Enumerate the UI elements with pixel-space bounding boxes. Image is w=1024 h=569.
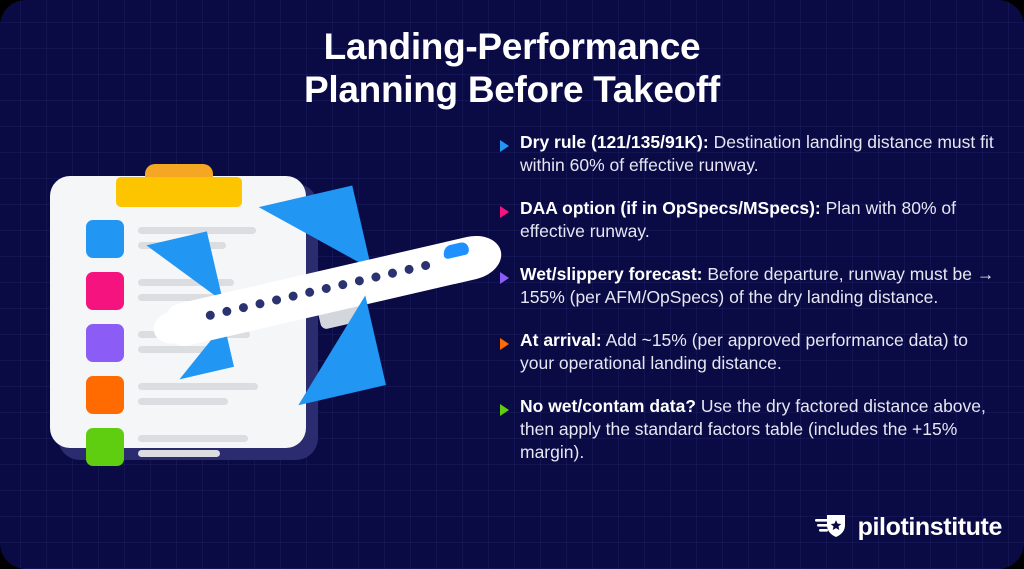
clipboard-clip-base xyxy=(116,177,242,207)
logo-wordmark: pilotinstitute xyxy=(858,513,1002,542)
bullet-item: At arrival: Add ~15% (per approved perfo… xyxy=(498,329,998,376)
bullet-item: No wet/contam data? Use the dry factored… xyxy=(498,395,998,465)
bullet-triangle-icon xyxy=(500,272,509,284)
bullet-text: Wet/slippery forecast: Before departure,… xyxy=(520,263,998,310)
bullet-text: DAA option (if in OpSpecs/MSpecs): Plan … xyxy=(520,197,998,244)
bullet-list: Dry rule (121/135/91K): Destination land… xyxy=(498,131,998,465)
bullet-text: Dry rule (121/135/91K): Destination land… xyxy=(520,131,998,178)
bullet-item: DAA option (if in OpSpecs/MSpecs): Plan … xyxy=(498,197,998,244)
bullet-triangle-icon xyxy=(500,140,509,152)
page-title: Landing-Performance Planning Before Take… xyxy=(0,26,1024,112)
infographic-canvas: Landing-Performance Planning Before Take… xyxy=(0,0,1024,569)
checklist-text-line xyxy=(138,435,248,442)
bullet-triangle-icon xyxy=(500,404,509,416)
bullet-label: At arrival: xyxy=(520,330,602,350)
bullet-text: At arrival: Add ~15% (per approved perfo… xyxy=(520,329,998,376)
bullet-item: Dry rule (121/135/91K): Destination land… xyxy=(498,131,998,178)
bullet-label: Dry rule (121/135/91K): xyxy=(520,132,709,152)
bullet-label: No wet/contam data? xyxy=(520,396,696,416)
checklist-color-swatch xyxy=(86,324,124,362)
brand-logo[interactable]: pilotinstitute xyxy=(815,512,1002,543)
checklist-color-swatch xyxy=(86,376,124,414)
clipboard-illustration xyxy=(40,160,500,470)
bullet-label: DAA option (if in OpSpecs/MSpecs): xyxy=(520,198,821,218)
bullet-text: No wet/contam data? Use the dry factored… xyxy=(520,395,998,465)
bullet-triangle-icon xyxy=(500,206,509,218)
winged-shield-star-icon xyxy=(815,512,849,543)
checklist-color-swatch xyxy=(86,428,124,466)
bullet-label: Wet/slippery forecast: xyxy=(520,264,703,284)
bullet-triangle-icon xyxy=(500,338,509,350)
checklist-text-line xyxy=(138,450,220,457)
bullet-item: Wet/slippery forecast: Before departure,… xyxy=(498,263,998,310)
